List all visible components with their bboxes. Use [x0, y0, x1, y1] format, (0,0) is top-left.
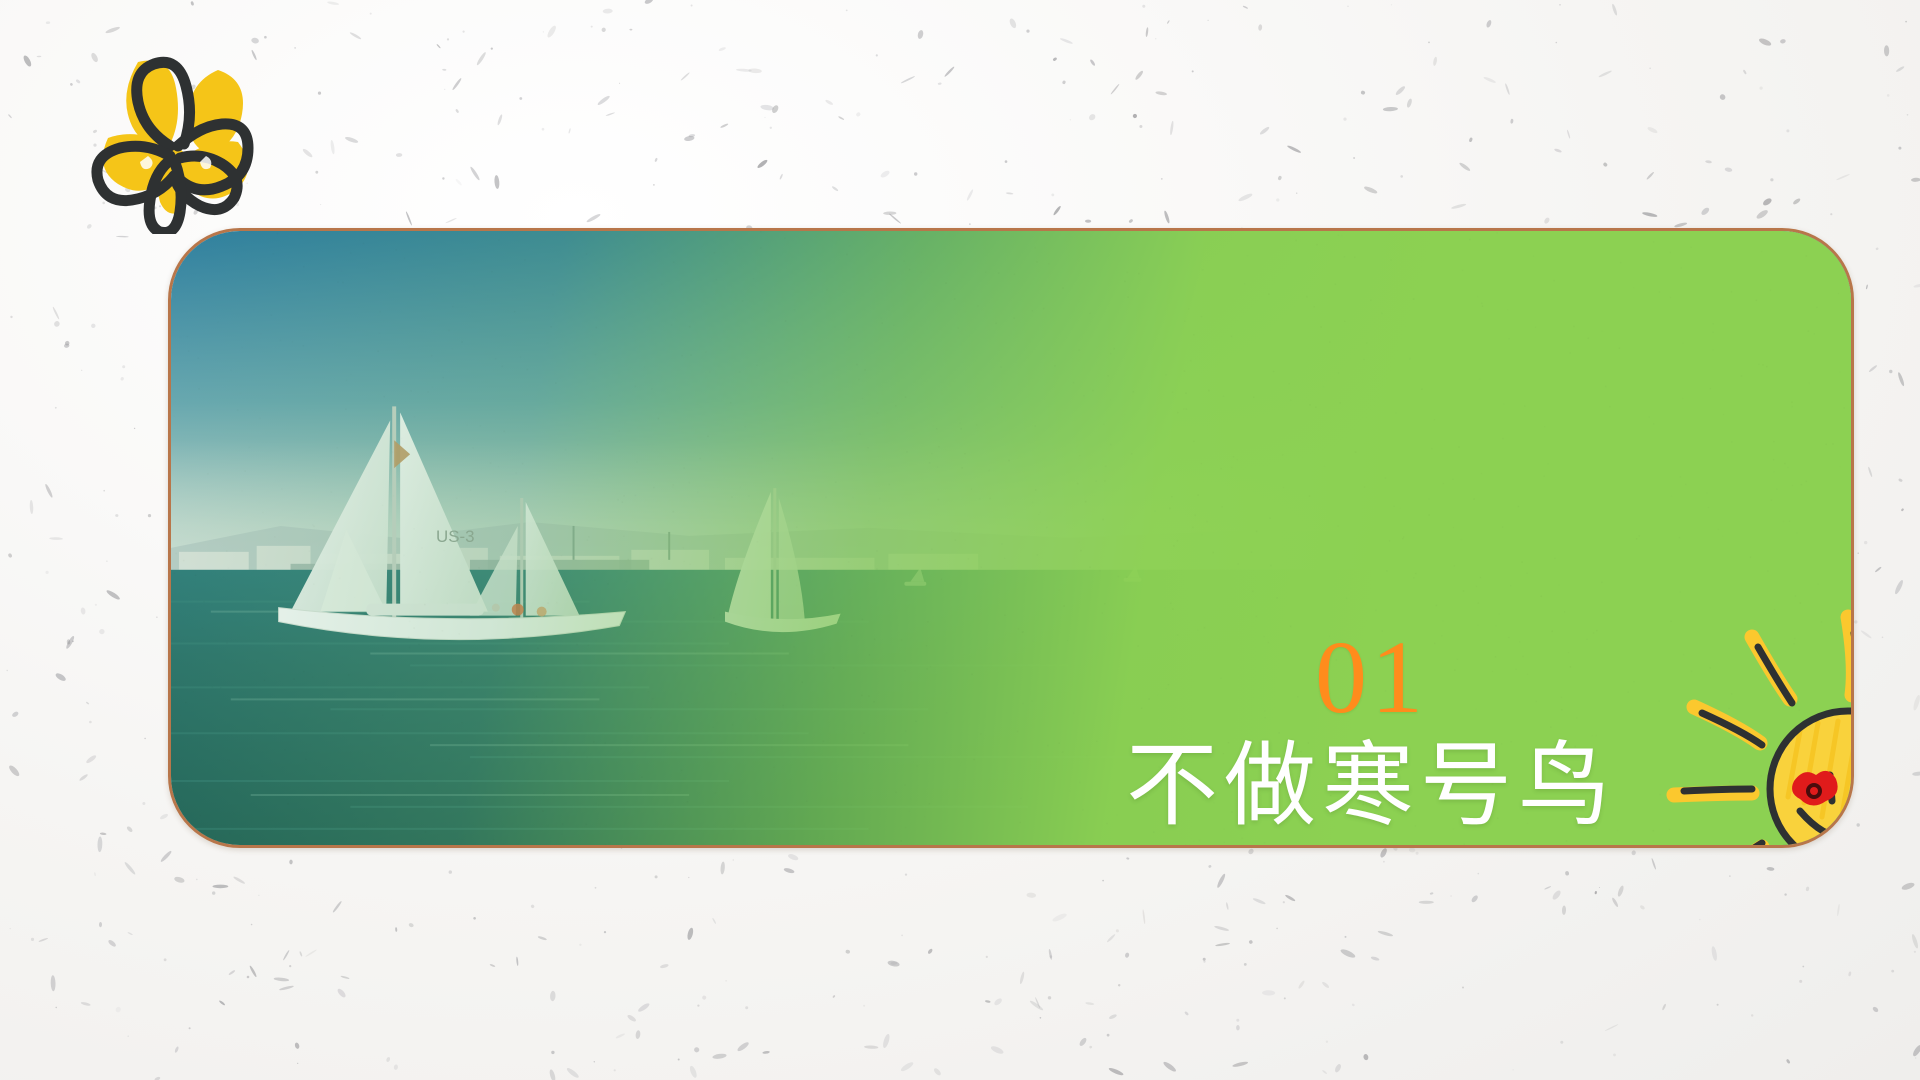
butterfly-doodle-icon [78, 44, 268, 234]
slide-canvas: US-3 [0, 0, 1920, 1080]
sun-smiley-icon [1658, 599, 1854, 848]
card-text-block: 01 不做寒号鸟 [1051, 626, 1691, 835]
section-heading: 不做寒号鸟 [1051, 736, 1691, 835]
section-number: 01 [1051, 626, 1691, 730]
feature-card: US-3 [168, 228, 1854, 848]
